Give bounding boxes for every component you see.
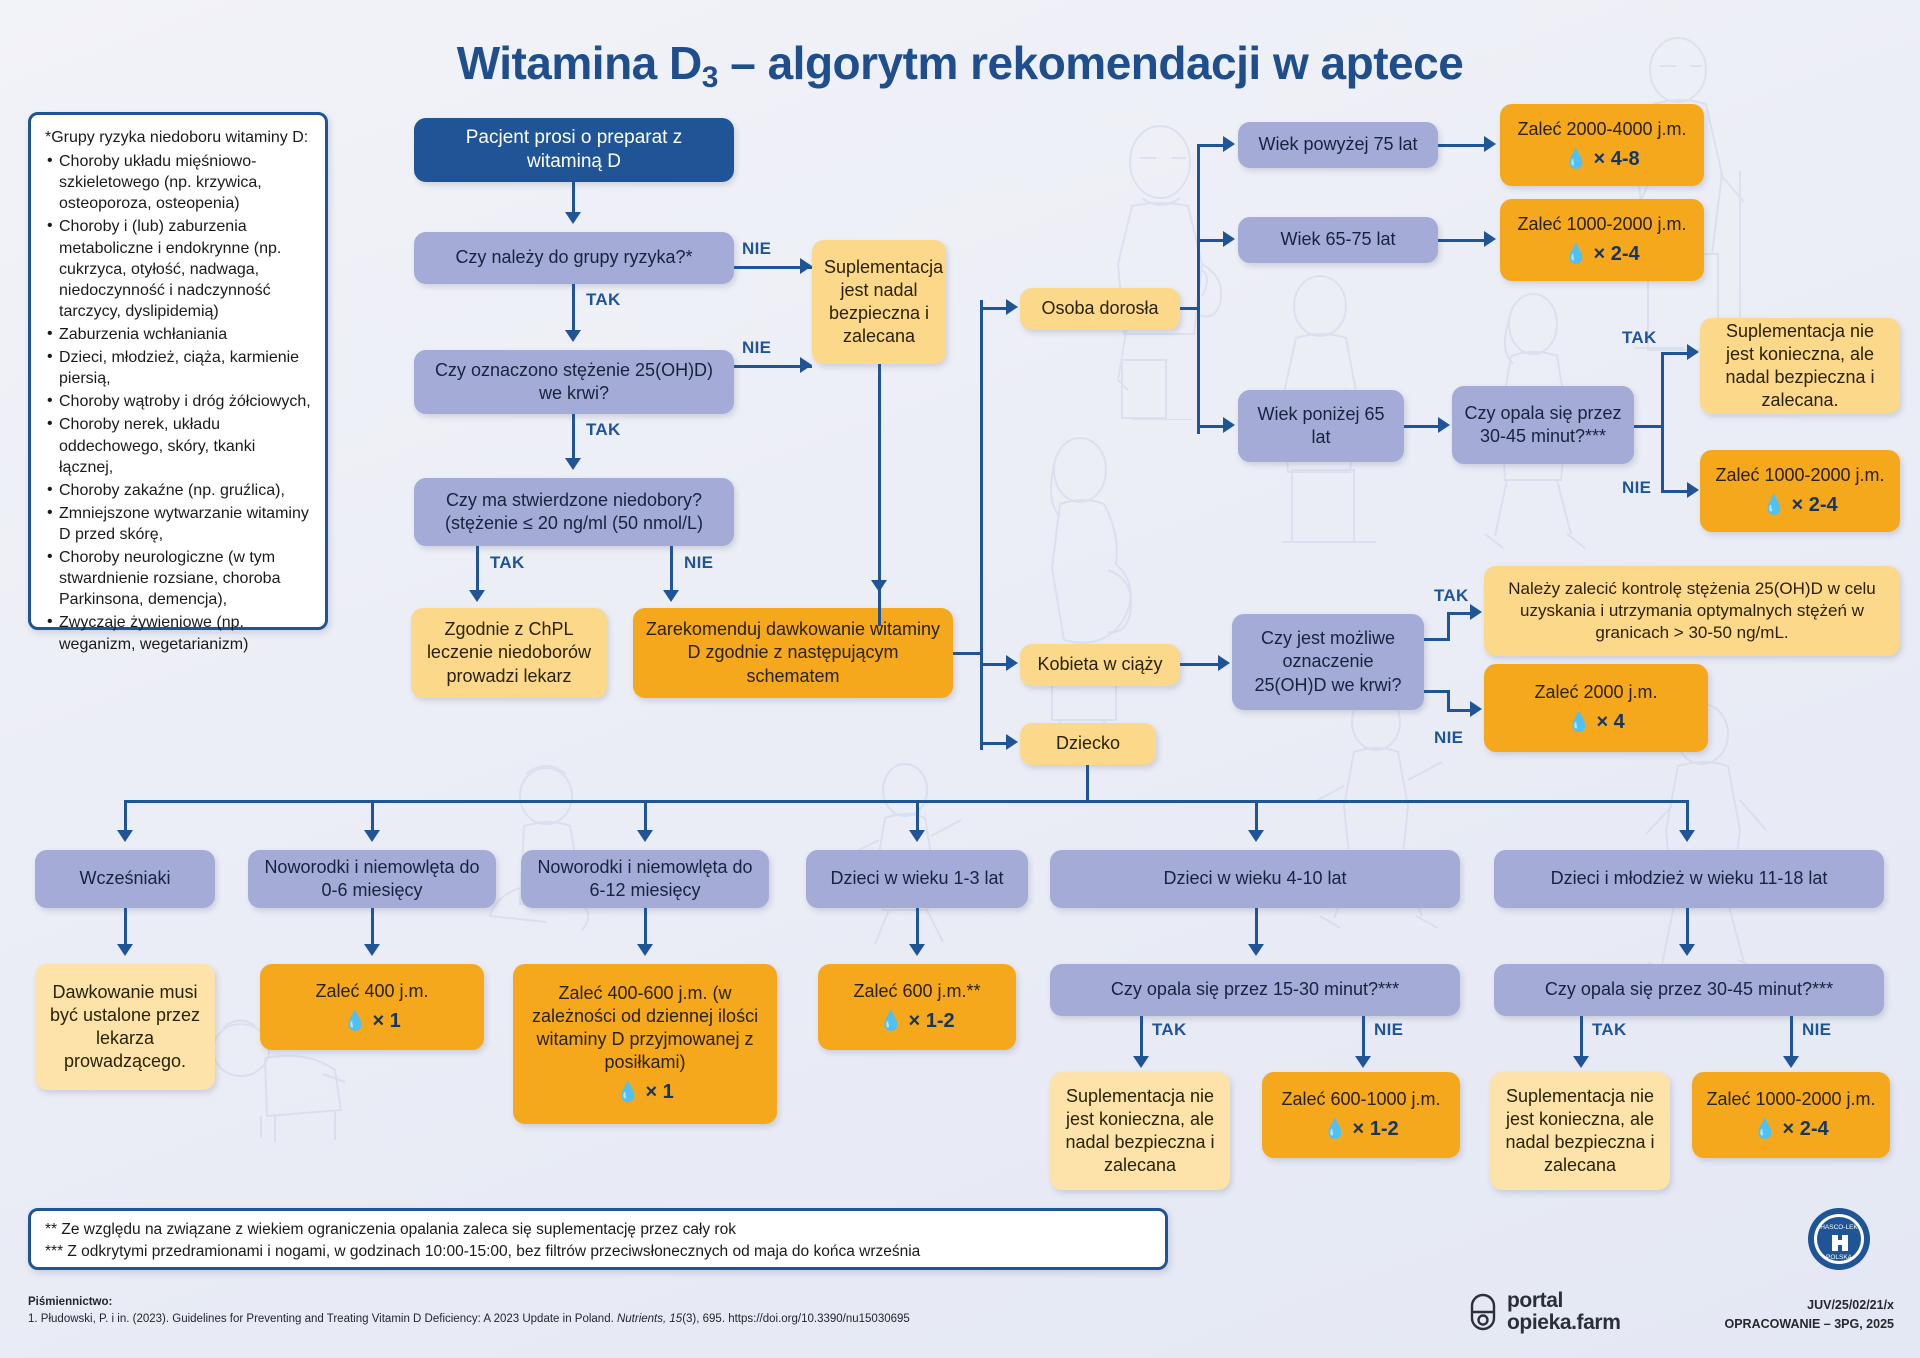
arrow-down (637, 944, 653, 956)
bibliography-entry-a: Płudowski, P. i in. (2023). Guidelines f… (41, 1313, 617, 1325)
arrow-down (1783, 1056, 1799, 1068)
node-q-pregnant-test-label: Czy jest możliwe oznaczenie 25(OH)D we k… (1244, 627, 1412, 696)
arrow-down (117, 944, 133, 956)
arrow-down (1573, 1056, 1589, 1068)
connector-bus-to-pregnant (980, 663, 1008, 666)
node-age-under-65-label: Wiek poniżej 65 lat (1250, 403, 1392, 449)
arrow-down (565, 212, 581, 224)
list-item: Choroby wątroby i dróg żółciowych, (45, 391, 311, 412)
node-group-0: Wcześniaki (35, 850, 215, 908)
list-item: Choroby zakaźne (np. gruźlica), (45, 480, 311, 501)
risk-groups-panel: *Grupy ryzyka niedoboru witaminy D: Chor… (28, 112, 328, 630)
arrow-down (871, 580, 887, 592)
result-group-4-no-dose: 💧 × 1-2 (1323, 1117, 1398, 1143)
label-yes-group-4: TAK (1152, 1020, 1187, 1040)
node-start: Pacjent prosi o preparat z witaminą D (414, 118, 734, 182)
connector-start-to-risk (572, 182, 575, 214)
code-line-2: OPRACOWANIE – 3PG, 2025 (1724, 1315, 1894, 1334)
title-before: Witamina D (457, 37, 702, 89)
dose-65-75-text: Zaleć 1000-2000 j.m. (1517, 213, 1686, 236)
node-group-0-label: Wcześniaki (47, 867, 203, 890)
result-group-0-text: Dawkowanie musi być ustalone przez lekar… (47, 981, 203, 1073)
label-yes-deficiency: TAK (490, 553, 525, 573)
dose-over-75-text: Zaleć 2000-4000 j.m. (1517, 118, 1686, 141)
connector-adult-in (1180, 307, 1200, 310)
node-recommend-scheme: Zarekomenduj dawkowanie witaminy D zgodn… (633, 608, 953, 698)
list-item: Choroby i (lub) zaburzenia metaboliczne … (45, 216, 311, 322)
label-no-risk: NIE (742, 239, 771, 259)
dose-65-75: Zaleć 1000-2000 j.m. 💧 × 2-4 (1500, 199, 1704, 281)
footnote-line-1: ** Ze względu na związane z wiekiem ogra… (45, 1219, 1151, 1241)
brand-line-1: portal (1507, 1290, 1620, 1312)
dose-over-75: Zaleć 2000-4000 j.m. 💧 × 4-8 (1500, 104, 1704, 186)
result-group-2-text: Zaleć 400-600 j.m. (w zależności od dzie… (525, 982, 765, 1074)
connector-under65-question (1404, 425, 1440, 428)
dose-pregnant-no: Zaleć 2000 j.m. 💧 × 4 (1484, 664, 1708, 752)
connector-child-col-6 (1686, 800, 1689, 832)
arrow-down (364, 830, 380, 842)
connector-bus-to-child (980, 742, 1008, 745)
capsule-icon (1468, 1293, 1498, 1331)
node-adult-label: Osoba dorosła (1032, 297, 1168, 320)
connector-child-col-5 (1255, 800, 1258, 832)
arrow-right (1484, 136, 1496, 152)
connector-sun-no (1661, 490, 1689, 493)
arrow-down (909, 830, 925, 842)
node-group-4-label: Dzieci w wieku 4-10 lat (1062, 867, 1448, 890)
node-q-deficiency: Czy ma stwierdzone niedobory? (stężenie … (414, 478, 734, 546)
node-group-3: Dzieci w wieku 1-3 lat (806, 850, 1028, 908)
connector-scheme-right (953, 652, 983, 655)
svg-text:HASCO-LEK: HASCO-LEK (1820, 1224, 1858, 1231)
arrow-right (1223, 136, 1235, 152)
connector-group-2-down (644, 908, 647, 946)
result-group-4-no: Zaleć 600-1000 j.m. 💧 × 1-2 (1262, 1072, 1460, 1158)
arrow-right (1006, 299, 1018, 315)
connector-group-1-down (371, 908, 374, 946)
node-q-risk-group: Czy należy do grupy ryzyka?* (414, 232, 734, 284)
label-yes-group-5: TAK (1592, 1020, 1627, 1040)
arrow-down (1679, 830, 1695, 842)
node-group-4: Dzieci w wieku 4-10 lat (1050, 850, 1460, 908)
arrow-right (1006, 655, 1018, 671)
node-q-pregnant-test: Czy jest możliwe oznaczenie 25(OH)D we k… (1232, 614, 1424, 710)
droplet-icon: 💧 (1323, 1119, 1347, 1140)
node-recommend-scheme-label: Zarekomenduj dawkowanie witaminy D zgodn… (645, 618, 941, 687)
arrow-right (1687, 344, 1699, 360)
silhouette-pregnant-woman (1000, 430, 1180, 750)
arrow-down (364, 944, 380, 956)
node-supplement-safe: Suplementacja jest nadal bezpieczna i za… (812, 240, 946, 364)
result-group-3: Zaleć 600 j.m.** 💧 × 1-2 (818, 964, 1016, 1050)
footnotes-panel: ** Ze względu na związane z wiekiem ogra… (28, 1208, 1168, 1270)
node-age-over-75-label: Wiek powyżej 75 lat (1250, 133, 1426, 156)
node-group-2: Noworodki i niemowlęta do 6-12 miesięcy (521, 850, 769, 908)
result-group-3-text: Zaleć 600 j.m.** (853, 980, 980, 1003)
node-group-3-label: Dzieci w wieku 1-3 lat (818, 867, 1016, 890)
droplet-icon: 💧 (616, 1082, 640, 1103)
connector-adult-under65 (1197, 425, 1225, 428)
connector-group-0-down (124, 908, 127, 946)
bibliography-entry-number: 1. (28, 1313, 38, 1325)
result-group-4-no-text: Zaleć 600-1000 j.m. (1281, 1088, 1440, 1111)
list-item: Zmniejszone wytwarzanie witaminy D przed… (45, 503, 311, 545)
connector-deficiency-yes (476, 546, 479, 592)
node-chpl: Zgodnie z ChPL leczenie niedoborów prowa… (411, 608, 607, 698)
list-item: Zaburzenia wchłaniania (45, 324, 311, 345)
arrow-right (1218, 655, 1230, 671)
connector-child-col-3 (644, 800, 647, 832)
result-group-2: Zaleć 400-600 j.m. (w zależności od dzie… (513, 964, 777, 1124)
list-item: Zwyczaje żywieniowe (np. weganizm, weget… (45, 612, 311, 654)
connector-pregnant-yes-v (1447, 612, 1450, 640)
arrow-down (1679, 944, 1695, 956)
arrow-right (1470, 701, 1482, 717)
connector-deficiency-no (670, 546, 673, 592)
node-age-65-75: Wiek 65-75 lat (1238, 217, 1438, 263)
arrow-down (1248, 944, 1264, 956)
list-item: Choroby neurologiczne (w tym stwardnieni… (45, 547, 311, 610)
risk-groups-list: Choroby układu mięśniowo-szkieletowego (… (45, 151, 311, 655)
node-q-measured-label: Czy oznaczono stężenie 25(OH)D) we krwi? (426, 359, 722, 405)
node-group-5-label: Dzieci i młodzież w wieku 11-18 lat (1506, 867, 1872, 890)
label-yes-risk: TAK (586, 290, 621, 310)
result-group-1-dose: 💧 × 1 (343, 1009, 401, 1035)
arrow-right (800, 357, 812, 373)
arrow-down (1248, 830, 1264, 842)
bus-vertical-main (980, 300, 983, 750)
node-q-sun-group-5: Czy opala się przez 30-45 minut?*** (1494, 964, 1884, 1016)
node-q-sun-group-5-label: Czy opala się przez 30-45 minut?*** (1506, 978, 1872, 1001)
node-age-under-65: Wiek poniżej 65 lat (1238, 390, 1404, 462)
node-group-1: Noworodki i niemowlęta do 0-6 miesięcy (248, 850, 496, 908)
result-group-5-yes: Suplementacja nie jest konieczna, ale na… (1490, 1072, 1670, 1190)
node-chpl-label: Zgodnie z ChPL leczenie niedoborów prowa… (423, 618, 595, 687)
label-yes-measured: TAK (586, 420, 621, 440)
label-no-pregnant: NIE (1434, 728, 1463, 748)
arrow-down (469, 590, 485, 602)
connector-over75-dose (1438, 144, 1486, 147)
node-start-label: Pacjent prosi o preparat z witaminą D (426, 126, 722, 175)
node-adult: Osoba dorosła (1020, 288, 1180, 330)
code-line-1: JUV/25/02/21/x (1724, 1296, 1894, 1315)
arrow-down (565, 458, 581, 470)
connector-group-3-down (916, 908, 919, 946)
arrow-down (637, 830, 653, 842)
node-sun-yes-adult-label: Suplementacja nie jest konieczna, ale na… (1712, 320, 1888, 412)
node-q-sun-group-4: Czy opala się przez 15-30 minut?*** (1050, 964, 1460, 1016)
bibliography-heading: Piśmiennictwo: (28, 1294, 910, 1311)
node-pregnant-yes-label: Należy zalecić kontrolę stężenia 25(OH)D… (1496, 578, 1888, 643)
result-group-3-dose: 💧 × 1-2 (879, 1009, 954, 1035)
connector-adult-65-75 (1197, 239, 1225, 242)
dose-sun-no-text: Zaleć 1000-2000 j.m. (1715, 464, 1884, 487)
node-pregnant-yes: Należy zalecić kontrolę stężenia 25(OH)D… (1484, 566, 1900, 656)
node-age-over-75: Wiek powyżej 75 lat (1238, 122, 1438, 168)
result-group-5-no-dose: 💧 × 2-4 (1753, 1117, 1828, 1143)
dose-sun-no-amount: 💧 × 2-4 (1762, 493, 1837, 519)
brand-line-2: opieka.farm (1507, 1312, 1620, 1334)
dose-pregnant-no-text: Zaleć 2000 j.m. (1534, 681, 1657, 704)
result-group-4-yes-text: Suplementacja nie jest konieczna, ale na… (1062, 1085, 1218, 1177)
node-child-label: Dziecko (1032, 732, 1144, 755)
droplet-icon: 💧 (1564, 149, 1588, 170)
droplet-icon: 💧 (1753, 1119, 1777, 1140)
label-no-sun-adult: NIE (1622, 478, 1651, 498)
result-group-0: Dawkowanie musi być ustalone przez lekar… (35, 964, 215, 1090)
connector-adult-over75 (1197, 144, 1225, 147)
title-after: – algorytm rekomendacji w aptece (718, 37, 1463, 89)
dose-over-75-amount: 💧 × 4-8 (1564, 147, 1639, 173)
connector-child-col-1 (124, 800, 127, 832)
connector-6575-dose (1438, 239, 1486, 242)
bibliography-entry-b: (3), 695. https://doi.org/10.3390/nu1503… (682, 1313, 910, 1325)
dose-pregnant-no-amount: 💧 × 4 (1567, 710, 1625, 736)
result-group-1: Zaleć 400 j.m. 💧 × 1 (260, 964, 484, 1050)
node-group-1-label: Noworodki i niemowlęta do 0-6 miesięcy (260, 856, 484, 902)
brand-logo: portal opieka.farm (1468, 1290, 1620, 1335)
list-item: Dzieci, młodzież, ciąża, karmienie piers… (45, 347, 311, 389)
droplet-icon: 💧 (343, 1011, 367, 1032)
droplet-icon: 💧 (1567, 712, 1591, 733)
page-title: Witamina D3 – algorytm rekomendacji w ap… (0, 36, 1920, 90)
result-group-2-dose: 💧 × 1 (616, 1080, 674, 1106)
dose-65-75-amount: 💧 × 2-4 (1564, 242, 1639, 268)
label-yes-pregnant: TAK (1434, 586, 1469, 606)
bus-children-horizontal (124, 800, 1689, 803)
node-q-sun-adult: Czy opala się przez 30-45 minut?*** (1452, 386, 1634, 464)
node-q-risk-group-label: Czy należy do grupy ryzyka?* (426, 246, 722, 269)
result-group-1-text: Zaleć 400 j.m. (315, 980, 428, 1003)
bibliography-entry-italic: Nutrients, 15 (617, 1313, 682, 1325)
connector-child-col-4 (916, 800, 919, 832)
node-group-2-label: Noworodki i niemowlęta do 6-12 miesięcy (533, 856, 757, 902)
arrow-right (800, 258, 812, 274)
connector-group-4-no (1362, 1016, 1365, 1058)
connector-group-4-yes (1140, 1016, 1143, 1058)
connector-group-5-no (1790, 1016, 1793, 1058)
result-group-5-no-text: Zaleć 1000-2000 j.m. (1706, 1088, 1875, 1111)
footnote-line-2: *** Z odkrytymi przedramionami i nogami,… (45, 1241, 1151, 1263)
connector-bus-to-adult (980, 307, 1008, 310)
connector-measured-to-deficiency (572, 414, 575, 460)
connector-group-4-down (1255, 908, 1258, 946)
brand-text: portal opieka.farm (1507, 1290, 1620, 1335)
node-q-deficiency-label: Czy ma stwierdzone niedobory? (stężenie … (426, 489, 722, 535)
connector-sun-out (1634, 425, 1664, 428)
label-no-group-5: NIE (1802, 1020, 1831, 1040)
arrow-right (1223, 417, 1235, 433)
bibliography: Piśmiennictwo: 1. Płudowski, P. i in. (2… (28, 1294, 910, 1329)
document-codes: JUV/25/02/21/x OPRACOWANIE – 3PG, 2025 (1724, 1296, 1894, 1334)
label-no-group-4: NIE (1374, 1020, 1403, 1040)
result-group-5-no: Zaleć 1000-2000 j.m. 💧 × 2-4 (1692, 1072, 1890, 1158)
connector-risk-to-measure (572, 284, 575, 332)
title-subscript: 3 (702, 61, 718, 94)
arrow-right (1687, 482, 1699, 498)
arrow-right (1438, 417, 1450, 433)
node-q-measured: Czy oznaczono stężenie 25(OH)D) we krwi? (414, 350, 734, 414)
arrow-right (1470, 604, 1482, 620)
arrow-down (909, 944, 925, 956)
dose-sun-no-adult: Zaleć 1000-2000 j.m. 💧 × 2-4 (1700, 450, 1900, 532)
node-q-sun-group-4-label: Czy opala się przez 15-30 minut?*** (1062, 978, 1448, 1001)
list-item: Choroby nerek, układu oddechowego, skóry… (45, 414, 311, 477)
node-child: Dziecko (1020, 723, 1156, 765)
connector-child-col-2 (371, 800, 374, 832)
node-pregnant: Kobieta w ciąży (1020, 644, 1180, 686)
connector-group-5-yes (1580, 1016, 1583, 1058)
arrow-right (1006, 734, 1018, 750)
svg-text:POLSKA: POLSKA (1826, 1254, 1853, 1261)
result-group-5-yes-text: Suplementacja nie jest konieczna, ale na… (1502, 1085, 1658, 1177)
risk-groups-heading: *Grupy ryzyka niedoboru witaminy D: (45, 127, 311, 148)
node-sun-yes-adult: Suplementacja nie jest konieczna, ale na… (1700, 318, 1900, 414)
arrow-right (1484, 231, 1496, 247)
list-item: Choroby układu mięśniowo-szkieletowego (… (45, 151, 311, 214)
arrow-down (565, 330, 581, 342)
arrow-down (1133, 1056, 1149, 1068)
connector-adult-bus (1197, 144, 1200, 434)
node-supplement-safe-label: Suplementacja jest nadal bezpieczna i za… (824, 256, 934, 348)
arrow-down (663, 590, 679, 602)
node-age-65-75-label: Wiek 65-75 lat (1250, 228, 1426, 251)
node-group-5: Dzieci i młodzież w wieku 11-18 lat (1494, 850, 1884, 908)
connector-group-5-down (1686, 908, 1689, 946)
connector-pregnant-to-question (1180, 663, 1220, 666)
droplet-icon: 💧 (879, 1011, 903, 1032)
arrow-down (1355, 1056, 1371, 1068)
arrow-right (1223, 231, 1235, 247)
silhouette-man-thumbsup (1080, 120, 1250, 420)
label-yes-sun-adult: TAK (1622, 328, 1657, 348)
label-no-measured: NIE (742, 338, 771, 358)
node-pregnant-label: Kobieta w ciąży (1032, 653, 1168, 676)
connector-sun-yes (1661, 352, 1689, 355)
connector-child-down (1086, 765, 1089, 803)
hasco-lek-seal-icon: HASCO-LEK POLSKA (1806, 1206, 1872, 1272)
bibliography-entry: 1. Płudowski, P. i in. (2023). Guideline… (28, 1311, 910, 1328)
connector-sun-vertical (1661, 352, 1664, 492)
result-group-4-yes: Suplementacja nie jest konieczna, ale na… (1050, 1072, 1230, 1190)
node-q-sun-adult-label: Czy opala się przez 30-45 minut?*** (1464, 402, 1622, 448)
label-no-deficiency: NIE (684, 553, 713, 573)
arrow-down (117, 830, 133, 842)
droplet-icon: 💧 (1762, 495, 1786, 516)
droplet-icon: 💧 (1564, 244, 1588, 265)
